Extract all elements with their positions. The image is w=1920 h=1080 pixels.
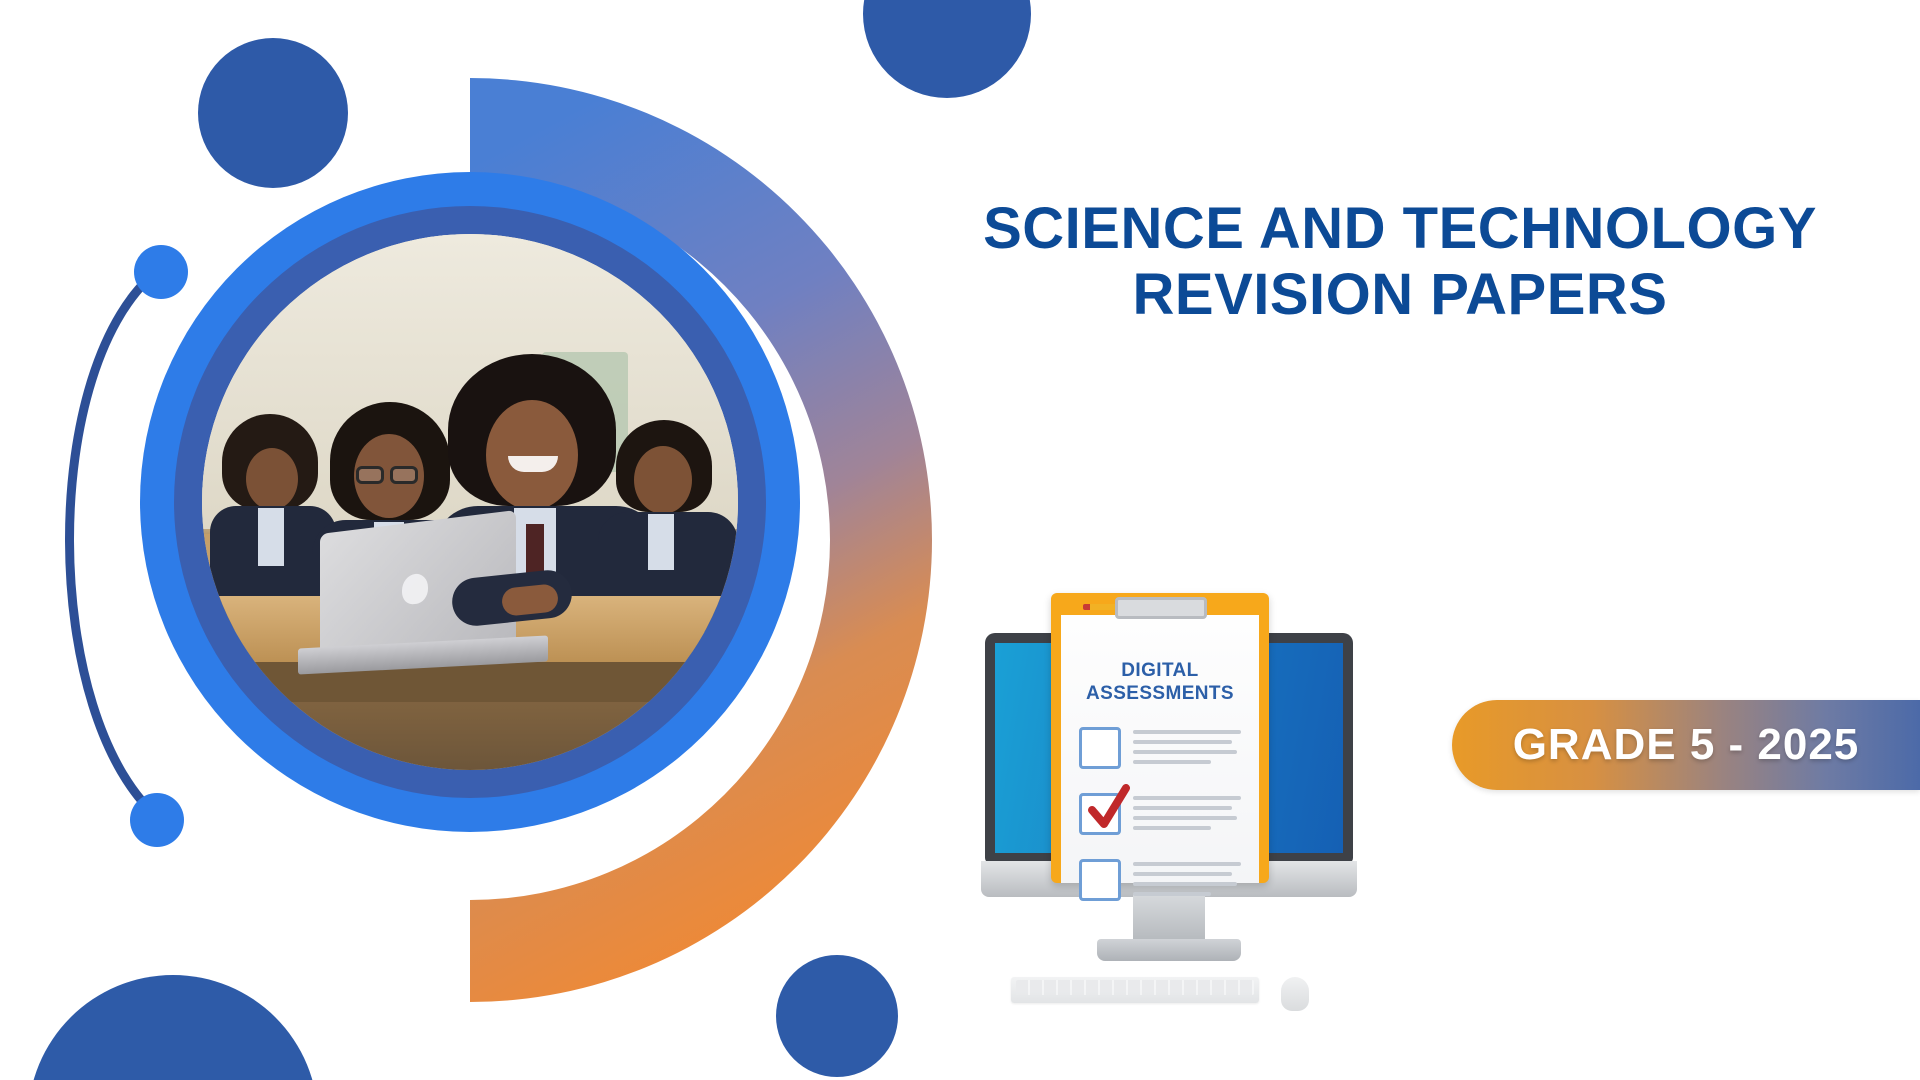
checklist-item xyxy=(1079,727,1245,779)
classroom-photo-image xyxy=(202,234,738,770)
keyboard-icon xyxy=(1011,977,1259,1003)
desktop-monitor-illustration: DIGITAL ASSESSMENTS xyxy=(975,585,1365,1005)
photo-ring-outer xyxy=(140,172,800,832)
checklist-text-lines xyxy=(1133,793,1245,836)
page-title: SCIENCE AND TECHNOLOGY REVISION PAPERS xyxy=(900,196,1900,327)
navy-circle-topright-decoration xyxy=(863,0,1031,98)
classroom-photo xyxy=(202,234,738,770)
clipboard-paper: DIGITAL ASSESSMENTS xyxy=(1061,615,1259,883)
mouse-icon xyxy=(1281,977,1309,1011)
blue-dot-top-decoration xyxy=(134,245,188,299)
checklist-item xyxy=(1079,793,1245,845)
navy-circle-top-decoration xyxy=(198,38,348,188)
grade-badge: GRADE 5 - 2025 xyxy=(1452,700,1920,790)
grade-badge-label: GRADE 5 - 2025 xyxy=(1513,720,1860,770)
checklist-text-lines xyxy=(1133,859,1245,902)
navy-circle-bottom-decoration xyxy=(776,955,898,1077)
red-checkmark-icon xyxy=(1086,784,1130,832)
monitor-stand-foot xyxy=(1097,939,1241,961)
clipboard-checklist xyxy=(1079,727,1245,925)
checkbox-unchecked-icon xyxy=(1079,727,1121,769)
checkbox-unchecked-icon xyxy=(1079,859,1121,901)
clipboard-clamp xyxy=(1115,597,1207,619)
checklist-item xyxy=(1079,859,1245,911)
photo-ring-mid xyxy=(174,206,766,798)
clipboard-title: DIGITAL ASSESSMENTS xyxy=(1061,659,1259,705)
page-title-line-1: SCIENCE AND TECHNOLOGY xyxy=(900,196,1900,262)
navy-circle-bottomleft-decoration xyxy=(28,975,318,1080)
blue-dot-bottom-decoration xyxy=(130,793,184,847)
page-title-line-2: REVISION PAPERS xyxy=(900,262,1900,328)
checkbox-checked-icon xyxy=(1079,793,1121,835)
checklist-text-lines xyxy=(1133,727,1245,770)
clipboard-title-line-2: ASSESSMENTS xyxy=(1061,682,1259,705)
clipboard-illustration: DIGITAL ASSESSMENTS xyxy=(1051,593,1269,883)
clipboard-title-line-1: DIGITAL xyxy=(1061,659,1259,682)
poster-canvas: SCIENCE AND TECHNOLOGY REVISION PAPERS G… xyxy=(0,0,1920,1080)
